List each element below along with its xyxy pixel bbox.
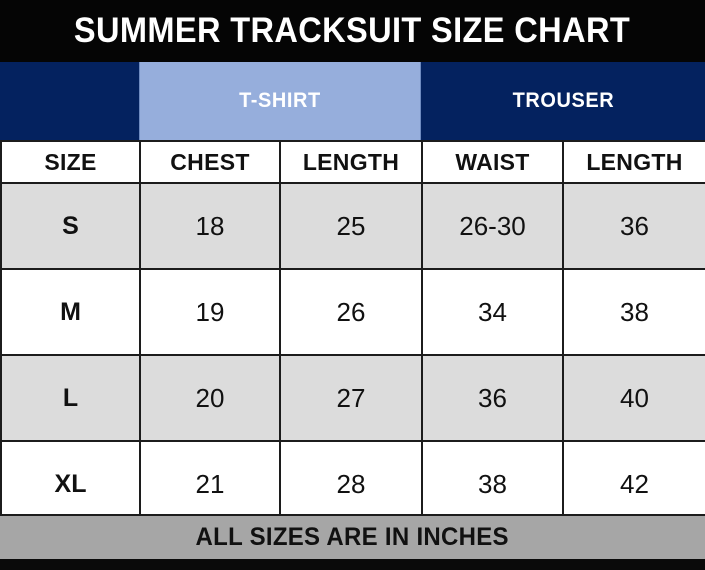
group-header-tshirt-label: T-SHIRT (239, 89, 321, 113)
column-header-waist: WAIST (422, 141, 563, 183)
table-row: M 19 26 34 38 (1, 269, 705, 355)
column-header-size: SIZE (1, 141, 140, 183)
title-banner: SUMMER TRACKSUIT SIZE CHART (0, 0, 705, 62)
cell-waist: 26-30 (422, 183, 563, 269)
group-header-blank (0, 62, 139, 140)
cell-tshirt-length: 25 (280, 183, 422, 269)
cell-size: M (1, 269, 140, 355)
footer-note: ALL SIZES ARE IN INCHES (196, 523, 509, 552)
column-header-chest: CHEST (140, 141, 280, 183)
cell-tshirt-length: 26 (280, 269, 422, 355)
cell-size: L (1, 355, 140, 441)
group-header-band: T-SHIRT TROUSER (0, 62, 705, 140)
table-row: S 18 25 26-30 36 (1, 183, 705, 269)
group-header-trouser-label: TROUSER (512, 89, 614, 113)
size-table: SIZE CHEST LENGTH WAIST LENGTH S 18 25 2… (0, 140, 705, 528)
table-header-row: SIZE CHEST LENGTH WAIST LENGTH (1, 141, 705, 183)
cell-waist: 36 (422, 355, 563, 441)
cell-size: S (1, 183, 140, 269)
page-title: SUMMER TRACKSUIT SIZE CHART (74, 11, 630, 51)
cell-chest: 18 (140, 183, 280, 269)
footer-note-band: ALL SIZES ARE IN INCHES (0, 514, 705, 559)
cell-chest: 19 (140, 269, 280, 355)
cell-trouser-length: 40 (563, 355, 705, 441)
cell-tshirt-length: 27 (280, 355, 422, 441)
column-header-tshirt-length: LENGTH (280, 141, 422, 183)
cell-trouser-length: 38 (563, 269, 705, 355)
table-row: L 20 27 36 40 (1, 355, 705, 441)
group-header-trouser: TROUSER (421, 62, 705, 140)
group-header-tshirt: T-SHIRT (139, 62, 421, 140)
size-chart-root: SUMMER TRACKSUIT SIZE CHART T-SHIRT TROU… (0, 0, 705, 570)
cell-chest: 20 (140, 355, 280, 441)
cell-waist: 34 (422, 269, 563, 355)
column-header-trouser-length: LENGTH (563, 141, 705, 183)
bottom-strip (0, 559, 705, 570)
cell-trouser-length: 36 (563, 183, 705, 269)
